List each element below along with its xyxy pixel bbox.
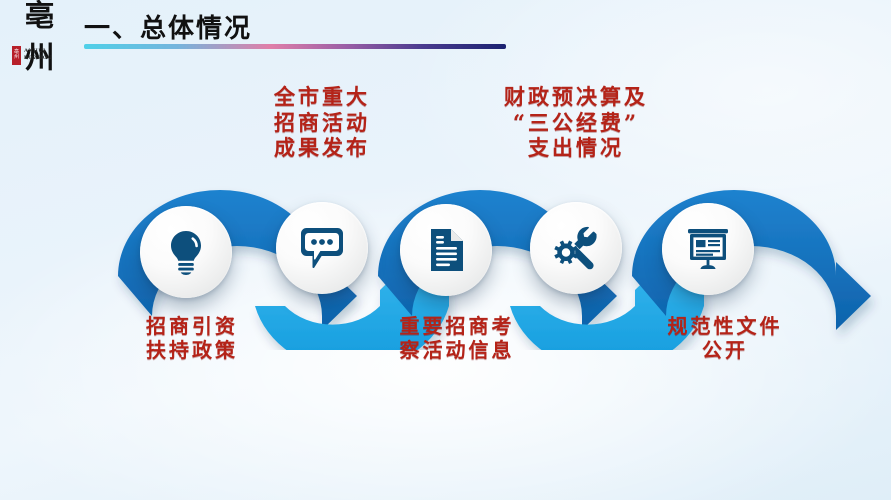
logo-char-top: 亳 (25, 4, 54, 30)
caption-line: 察活动信息 (366, 338, 548, 362)
caption-line: 财政预决算及 (476, 84, 676, 110)
process-node-speech-bubble[interactable] (276, 202, 368, 294)
bozhou-city-logo: 亳 州 亳 州 ANHUI BOZHOU (8, 4, 70, 96)
slide-canvas: 亳 州 亳 州 ANHUI BOZHOU 一、总体情况 (0, 0, 891, 500)
caption-investment-support-policy: 招商引资 扶持政策 (104, 314, 280, 363)
caption-key-inspection-activity-info: 重要招商考 察活动信息 (366, 314, 548, 363)
process-node-lightbulb[interactable] (140, 206, 232, 298)
caption-budget-and-three-public-expenses: 财政预决算及 “三公经费” 支出情况 (476, 84, 676, 161)
caption-line: 公开 (634, 338, 816, 362)
logo-red-seal: 亳 州 (12, 46, 21, 65)
document-icon (427, 227, 465, 273)
caption-line: “三公经费” (476, 110, 676, 136)
process-node-presentation[interactable] (662, 203, 754, 295)
caption-line: 重要招商考 (366, 314, 548, 338)
logo-latin-line-2: BOZHOU (24, 55, 52, 62)
presentation-board-icon (685, 227, 731, 271)
speech-bubble-icon (299, 226, 345, 270)
logo-latin-text: ANHUI BOZHOU (24, 48, 52, 62)
caption-line: 全市重大 (232, 84, 412, 110)
title-underline-gradient (84, 44, 506, 49)
caption-major-investment-events: 全市重大 招商活动 成果发布 (232, 84, 412, 161)
caption-line: 规范性文件 (634, 314, 816, 338)
process-node-document[interactable] (400, 204, 492, 296)
process-node-wrench-gear[interactable] (530, 202, 622, 294)
caption-line: 招商引资 (104, 314, 280, 338)
page-title: 一、总体情况 (84, 8, 252, 45)
caption-line: 支出情况 (476, 135, 676, 161)
caption-line: 招商活动 (232, 110, 412, 136)
caption-line: 扶持政策 (104, 338, 280, 362)
lightbulb-icon (165, 229, 207, 275)
caption-line: 成果发布 (232, 135, 412, 161)
logo-latin-line-1: ANHUI (24, 48, 52, 55)
logo-seal-char-2: 州 (14, 55, 19, 61)
wrench-gear-icon (553, 225, 599, 271)
logo-seal-block: 亳 州 ANHUI BOZHOU (12, 44, 70, 66)
caption-normative-document-disclosure: 规范性文件 公开 (634, 314, 816, 363)
